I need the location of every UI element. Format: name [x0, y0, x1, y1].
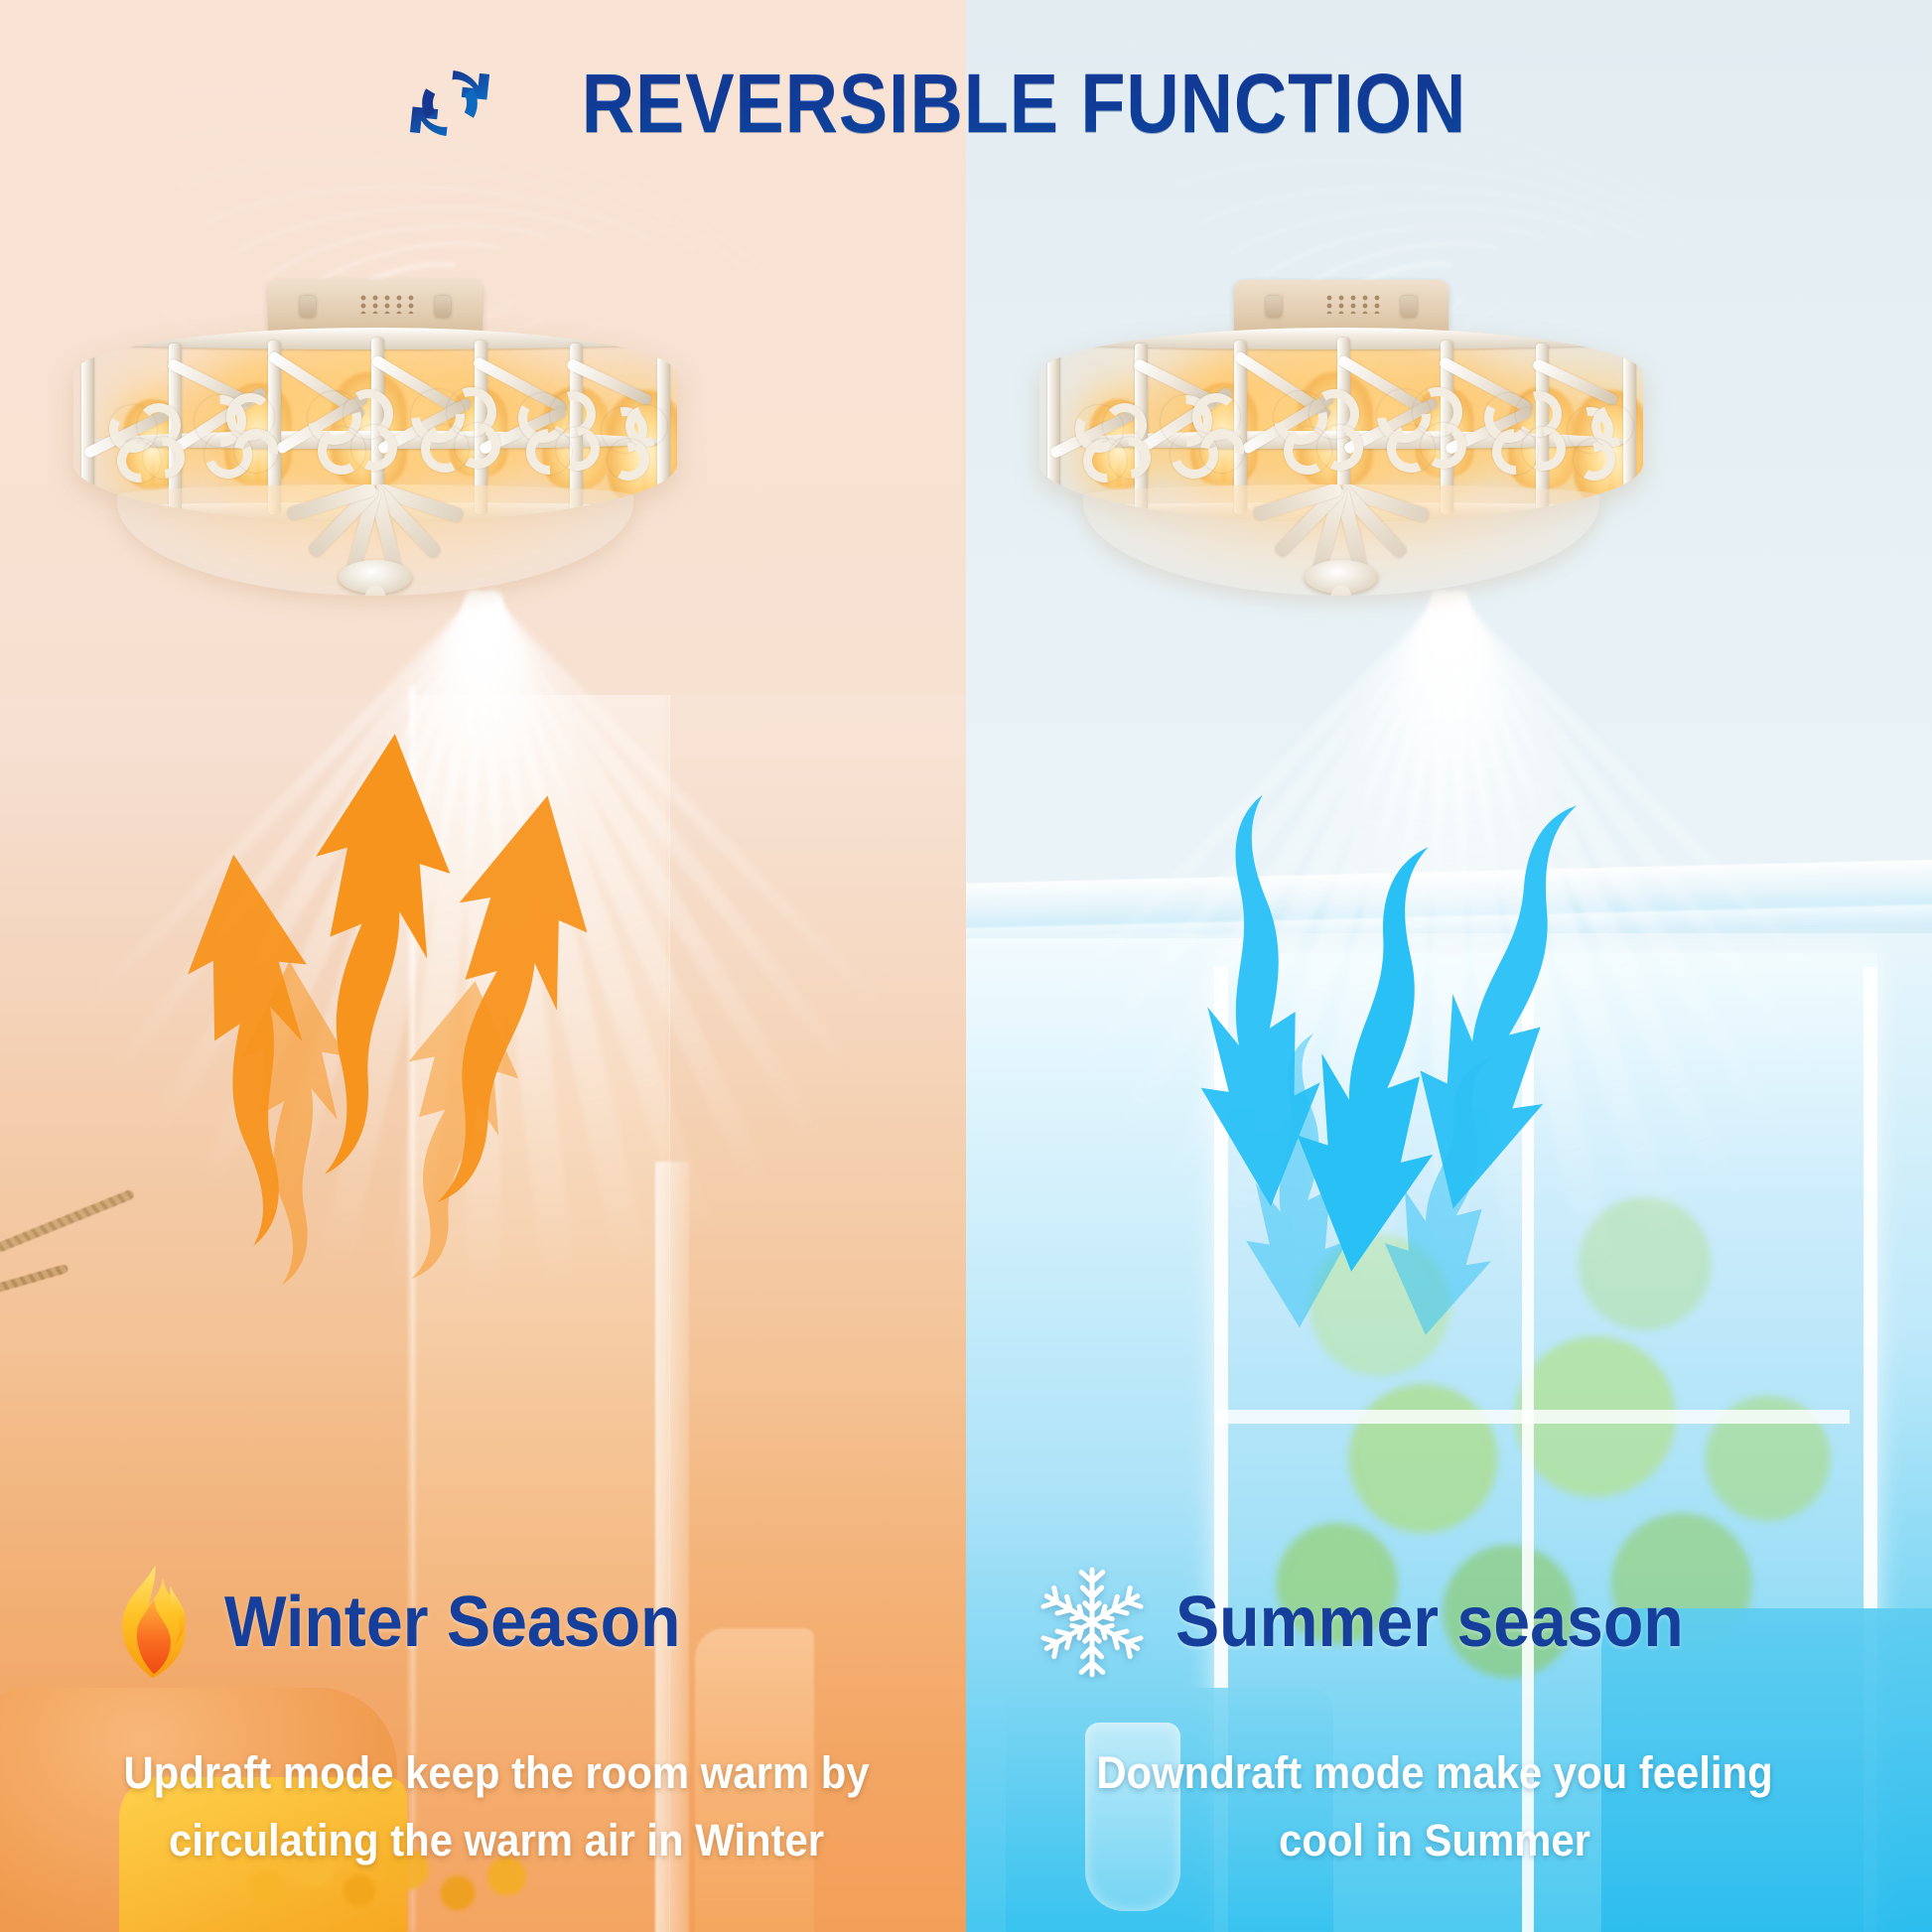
infographic-canvas: REVERSIBLE FUNCTION Winter Season [0, 0, 1932, 1932]
ceiling-fan-fixture [58, 280, 693, 618]
flame-icon [107, 1563, 201, 1682]
page-title: REVERSIBLE FUNCTION [0, 48, 1932, 159]
page-title-text: REVERSIBLE FUNCTION [582, 56, 1466, 152]
fan-blade-skirt [117, 484, 633, 596]
ceiling-fan-fixture [1024, 280, 1659, 618]
canopy-screw [435, 296, 451, 318]
summer-season-label: Summer season [1033, 1567, 1727, 1678]
winter-description: Updraft mode keep the room warm by circu… [71, 1739, 921, 1875]
cage-strut [1047, 346, 1060, 511]
canopy-screw [1401, 296, 1417, 318]
cage-strut [81, 346, 94, 511]
window-rail [1214, 1410, 1850, 1424]
canopy-screw [1266, 296, 1282, 318]
snowflake-icon [1033, 1563, 1152, 1682]
canopy-screw [300, 296, 316, 318]
summer-season-text: Summer season [1175, 1582, 1684, 1663]
winter-season-text: Winter Season [224, 1582, 681, 1663]
summer-description: Downdraft mode make you feeling cool in … [1006, 1739, 1864, 1875]
winter-season-label: Winter Season [107, 1567, 720, 1678]
reverse-arrows-icon [404, 58, 495, 149]
fan-blade-skirt [1083, 484, 1599, 596]
